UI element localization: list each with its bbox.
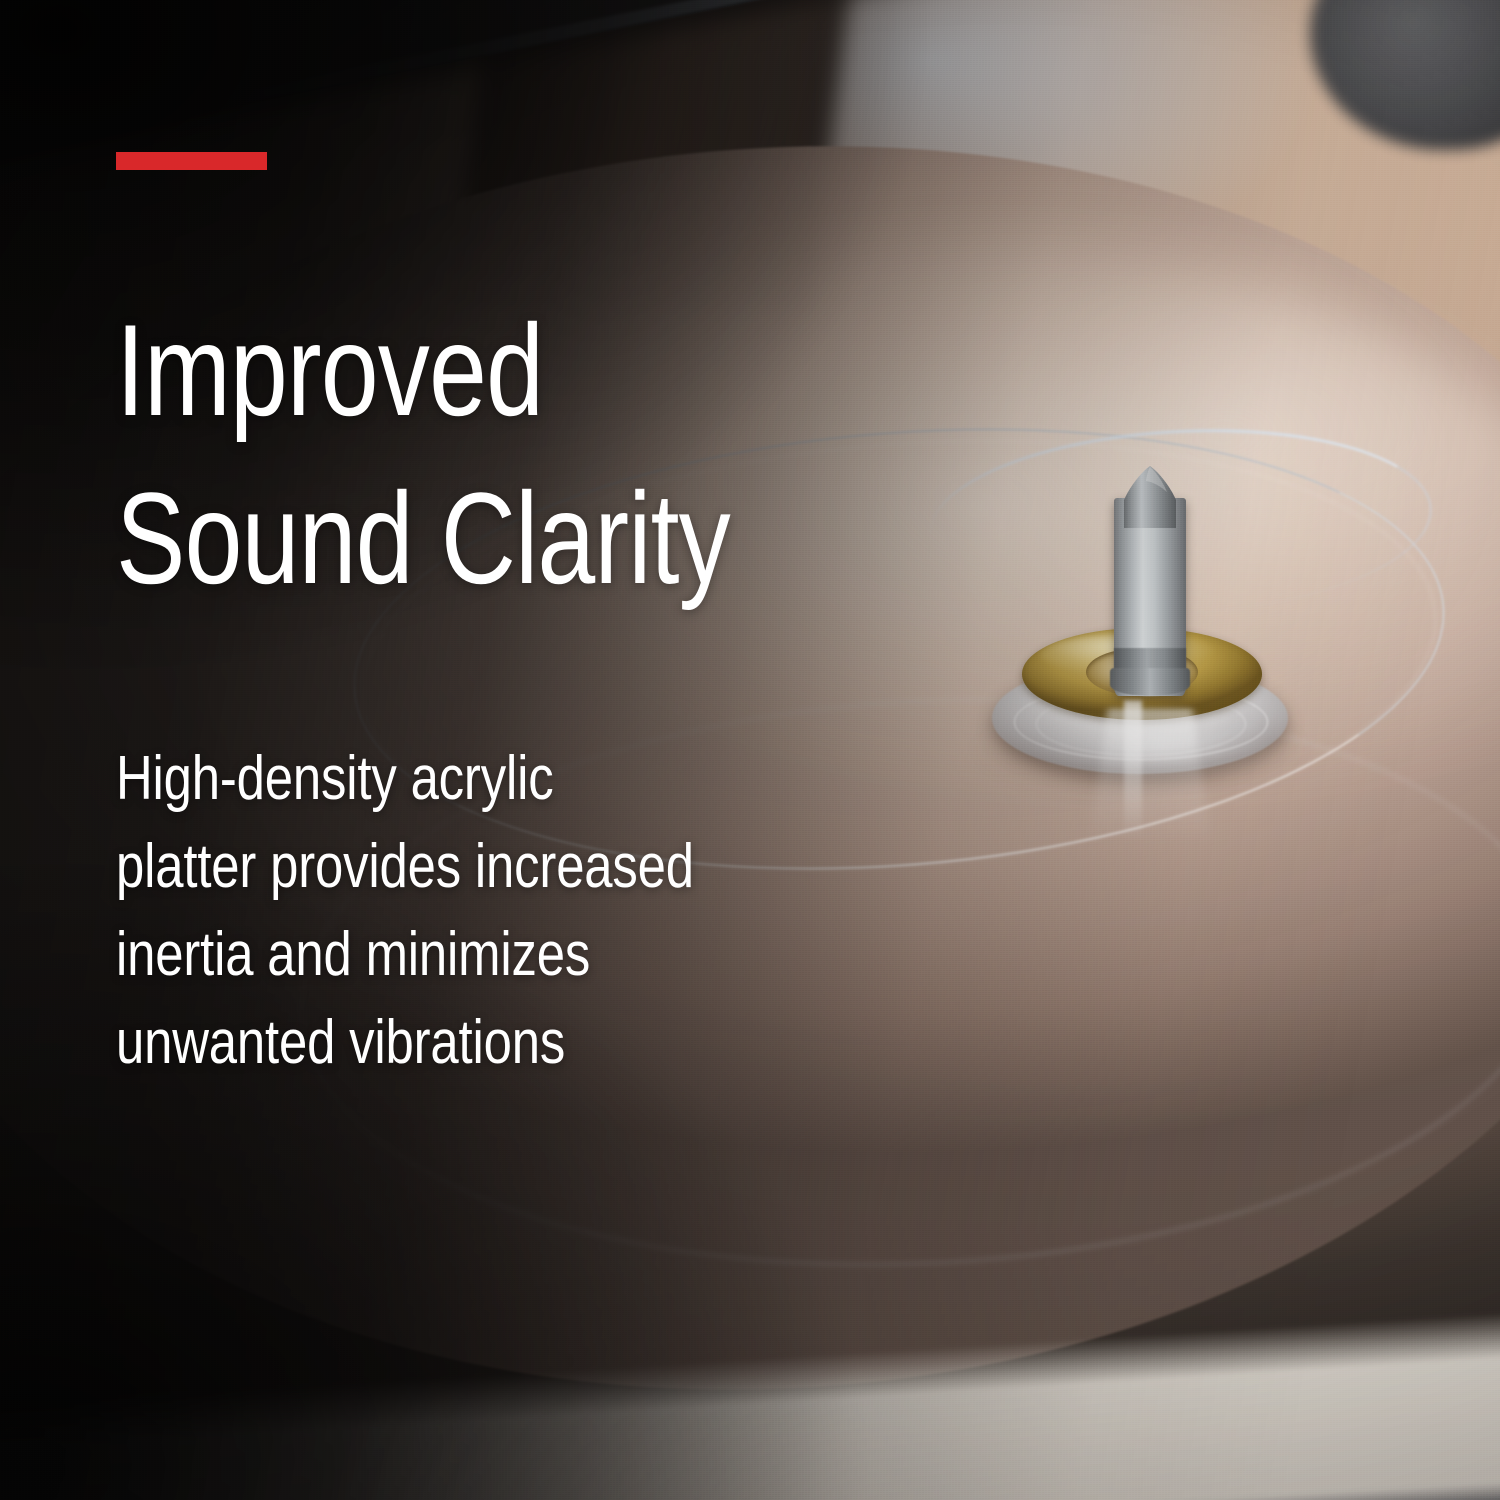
text-content-block: Improved Sound Clarity High-density acry… [0, 0, 1500, 1500]
marketing-image-canvas: Improved Sound Clarity High-density acry… [0, 0, 1500, 1500]
red-accent-bar [116, 152, 267, 170]
feature-description: High-density acrylic platter provides in… [116, 735, 977, 1087]
page-title: Improved Sound Clarity [116, 286, 916, 622]
